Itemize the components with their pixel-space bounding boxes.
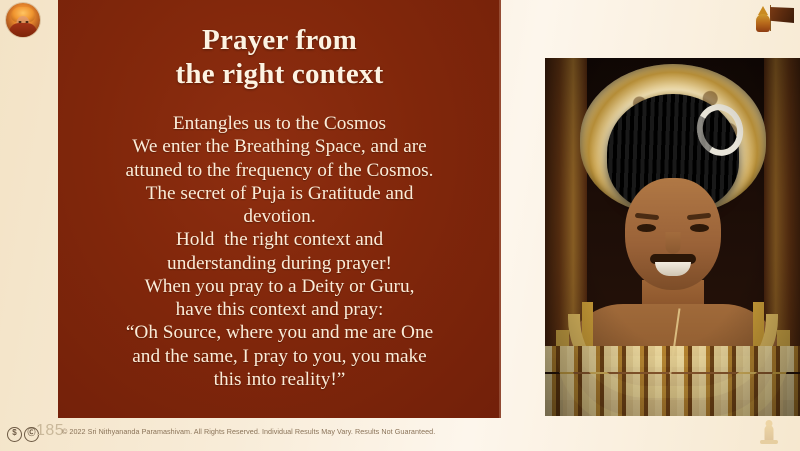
body-line: attuned to the frequency of the Cosmos. [64,159,495,182]
deity-watermark-icon [756,419,782,445]
watermark-base [760,440,778,444]
title-line: the right context [58,58,501,92]
logo-robe [9,23,37,37]
deity-body [756,14,770,32]
deity-flag-emblem-icon [748,4,794,36]
slide-body-text: Entangles us to the Cosmos We enter the … [64,112,495,391]
body-line: We enter the Breathing Space, and are [64,135,495,158]
deity-figure-icon [754,6,772,34]
copyright-notice: © 2022 Sri Nithyananda Paramashivam. All… [62,427,435,436]
body-line: have this context and pray: [64,298,495,321]
face [625,178,721,290]
title-line: Prayer from [58,24,501,58]
flag-icon [770,7,794,23]
body-line: Entangles us to the Cosmos [64,112,495,135]
body-line: “Oh Source, where you and me are One [64,321,495,344]
cc-share-icon: $ [7,427,22,442]
watermark-body [765,425,774,441]
guru-portrait-logo-icon [6,3,40,37]
nose [665,232,680,254]
eye-left [637,224,656,232]
eye-right [690,224,709,232]
body-line: and the same, I pray to you, you make [64,345,495,368]
eyebrow-right [686,213,710,220]
body-line: understanding during prayer! [64,252,495,275]
page-number: 185 [36,422,64,440]
content-panel: Prayer from the right context Entangles … [58,0,501,418]
smile [655,262,691,276]
eyebrow-left [634,213,658,220]
body-line: When you pray to a Deity or Guru, [64,275,495,298]
creative-commons-icons: $ Ⓒ [7,427,39,442]
body-line: Hold the right context and [64,228,495,251]
presentation-slide: Prayer from the right context Entangles … [0,0,800,451]
body-line: The secret of Puja is Gratitude and [64,182,495,205]
slide-title: Prayer from the right context [58,24,501,91]
body-line: devotion. [64,205,495,228]
guru-portrait-photograph [545,58,800,416]
body-line: this into reality!” [64,368,495,391]
slide-footer: $ Ⓒ 185 © 2022 Sri Nithyananda Paramashi… [0,418,800,451]
